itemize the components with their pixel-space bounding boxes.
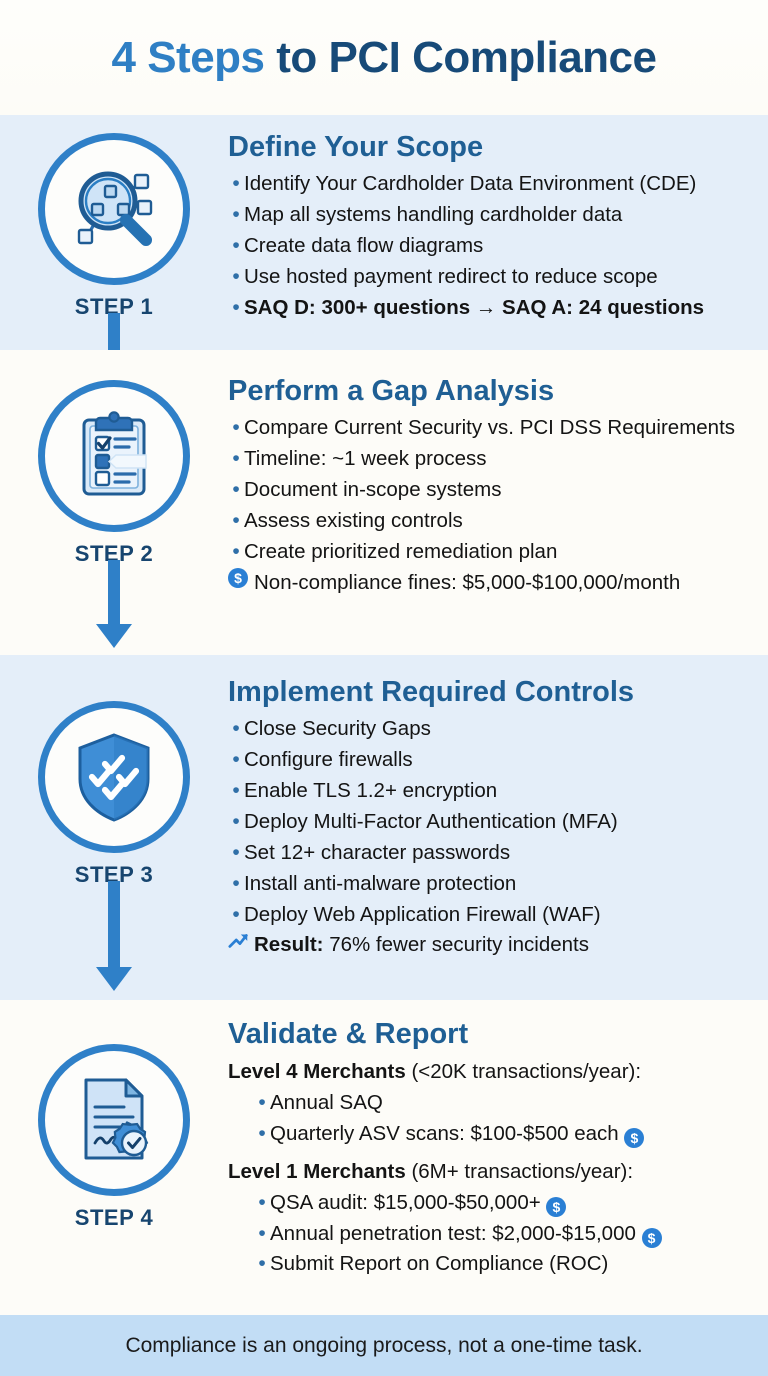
bullet-text: Deploy Web Application Firewall (WAF) — [244, 900, 762, 930]
bullet-dot-icon: • — [228, 838, 244, 869]
step-section-4: STEP 4 Validate & Report Level 4 Merchan… — [0, 1000, 768, 1315]
bullet-dot-icon: • — [228, 506, 244, 537]
step-section-2: STEP 2 Perform a Gap Analysis •Compare C… — [0, 350, 768, 655]
list-item: •Submit Report on Compliance (ROC) — [254, 1249, 762, 1280]
list-item: •Timeline: ~1 week process — [228, 444, 762, 475]
bullet-dot-icon: • — [254, 1249, 270, 1280]
bullet-text: Timeline: ~1 week process — [244, 444, 762, 474]
bullet-dot-icon: • — [228, 900, 244, 931]
step-2-marker-column: STEP 2 — [0, 350, 228, 655]
bullet-text: Non-compliance fines: $5,000-$100,000/mo… — [254, 568, 762, 598]
list-item: •QSA audit: $15,000-$50,000+ $ — [254, 1188, 762, 1219]
merchant-group-list-2: •QSA audit: $15,000-$50,000+ $ •Annual p… — [228, 1188, 762, 1281]
bullet-dot-icon: • — [228, 714, 244, 745]
bullet-dot-icon: • — [228, 262, 244, 293]
bullet-text: Submit Report on Compliance (ROC) — [270, 1249, 762, 1279]
step-1-marker-column: STEP 1 — [0, 115, 228, 350]
bullet-dot-icon: • — [228, 537, 244, 568]
step-3-icon-circle — [38, 701, 190, 853]
bullet-text: Create data flow diagrams — [244, 231, 762, 261]
bullet-text: Compare Current Security vs. PCI DSS Req… — [244, 413, 762, 443]
bullet-text: Set 12+ character passwords — [244, 838, 762, 868]
bullet-dot-icon: • — [254, 1219, 270, 1250]
step-4-marker-column: STEP 4 — [0, 1000, 228, 1315]
list-item: •Create prioritized remediation plan — [228, 537, 762, 568]
bullet-dot-icon: • — [228, 869, 244, 900]
bullet-dot-icon: • — [228, 776, 244, 807]
step-2-heading: Perform a Gap Analysis — [228, 375, 762, 407]
title-part-light: 4 Steps — [112, 33, 277, 82]
list-item: •Create data flow diagrams — [228, 231, 762, 262]
merchant-group-heading-2: Level 1 Merchants (6M+ transactions/year… — [228, 1157, 762, 1188]
bullet-dot-icon: • — [254, 1088, 270, 1119]
merchant-group-heading-1: Level 4 Merchants (<20K transactions/yea… — [228, 1057, 762, 1088]
step-2-content: Perform a Gap Analysis •Compare Current … — [228, 350, 768, 655]
group-subtitle: (6M+ transactions/year): — [406, 1160, 633, 1183]
bullet-text: SAQ D: 300+ questions → SAQ A: 24 questi… — [244, 293, 762, 323]
title-part-dark: to PCI Compliance — [276, 33, 656, 82]
magnifier-network-icon — [62, 157, 166, 261]
bullet-text: Result: 76% fewer security incidents — [254, 930, 762, 960]
bullet-dot-icon: • — [228, 807, 244, 838]
result-lead-label: Result: — [254, 933, 323, 956]
document-seal-icon — [64, 1070, 164, 1170]
connector-arrow-3-to-4 — [108, 881, 120, 991]
clipboard-checklist-icon — [64, 406, 164, 506]
bullet-dot-icon: • — [228, 293, 244, 324]
bullet-text: Enable TLS 1.2+ encryption — [244, 776, 762, 806]
list-item: •Deploy Multi-Factor Authentication (MFA… — [228, 807, 762, 838]
footer-text: Compliance is an ongoing process, not a … — [125, 1334, 642, 1358]
infographic-page: 4 Steps to PCI Compliance — [0, 0, 768, 1376]
bullet-text: Identify Your Cardholder Data Environmen… — [244, 169, 762, 199]
list-item: •Map all systems handling cardholder dat… — [228, 200, 762, 231]
list-item: •Set 12+ character passwords — [228, 838, 762, 869]
bullet-dot-icon: • — [228, 200, 244, 231]
group-title: Level 1 Merchants — [228, 1160, 406, 1183]
list-item: •Enable TLS 1.2+ encryption — [228, 776, 762, 807]
step-1-icon-circle — [38, 133, 190, 285]
money-badge-icon: $ — [642, 1228, 662, 1248]
step-section-1: STEP 1 Define Your Scope •Identify Your … — [0, 115, 768, 350]
bullet-dot-icon: • — [254, 1119, 270, 1150]
bullet-dot-icon: • — [228, 231, 244, 262]
bullet-dot-icon: • — [254, 1188, 270, 1219]
footer-banner: Compliance is an ongoing process, not a … — [0, 1315, 768, 1376]
trending-up-icon — [228, 930, 250, 950]
bullet-text: Quarterly ASV scans: $100-$500 each $ — [270, 1119, 762, 1149]
list-item-result: Result: 76% fewer security incidents — [228, 930, 762, 960]
bullet-text: QSA audit: $15,000-$50,000+ $ — [270, 1188, 762, 1218]
list-item: •Document in-scope systems — [228, 475, 762, 506]
marker-slot — [228, 930, 254, 950]
list-item: •Close Security Gaps — [228, 714, 762, 745]
step-4-icon-circle — [38, 1044, 190, 1196]
step-3-bullet-list: •Close Security Gaps •Configure firewall… — [228, 714, 762, 960]
connector-arrow-2-to-3 — [108, 560, 120, 648]
list-item: •SAQ D: 300+ questions → SAQ A: 24 quest… — [228, 293, 762, 324]
bullet-text: Create prioritized remediation plan — [244, 537, 762, 567]
list-item: •Install anti-malware protection — [228, 869, 762, 900]
bullet-text: Document in-scope systems — [244, 475, 762, 505]
list-item: •Annual SAQ — [254, 1088, 762, 1119]
group-subtitle: (<20K transactions/year): — [406, 1060, 641, 1083]
bullet-text: Close Security Gaps — [244, 714, 762, 744]
step-section-3: STEP 3 Implement Required Controls •Clos… — [0, 655, 768, 1000]
list-item: •Identify Your Cardholder Data Environme… — [228, 169, 762, 200]
money-badge-icon: $ — [546, 1197, 566, 1217]
step-4-heading: Validate & Report — [228, 1018, 762, 1050]
bullet-text: Install anti-malware protection — [244, 869, 762, 899]
step-1-bullet-list: •Identify Your Cardholder Data Environme… — [228, 169, 762, 323]
bullet-text: Annual penetration test: $2,000-$15,000 … — [270, 1219, 762, 1249]
step-2-bullet-list: •Compare Current Security vs. PCI DSS Re… — [228, 413, 762, 597]
step-1-heading: Define Your Scope — [228, 131, 762, 163]
list-item: $Non-compliance fines: $5,000-$100,000/m… — [228, 568, 762, 598]
bullet-dot-icon: • — [228, 413, 244, 444]
bullet-text: Annual SAQ — [270, 1088, 762, 1118]
bullet-dot-icon: • — [228, 169, 244, 200]
marker-slot: $ — [228, 568, 254, 588]
group-title: Level 4 Merchants — [228, 1060, 406, 1083]
shield-checks-icon — [64, 727, 164, 827]
money-badge-icon: $ — [624, 1128, 644, 1148]
bullet-text: Deploy Multi-Factor Authentication (MFA) — [244, 807, 762, 837]
page-title: 4 Steps to PCI Compliance — [112, 33, 657, 83]
bullet-dot-icon: • — [228, 475, 244, 506]
bullet-dot-icon: • — [228, 444, 244, 475]
step-4-content: Validate & Report Level 4 Merchants (<20… — [228, 1000, 768, 1315]
bullet-text: Map all systems handling cardholder data — [244, 200, 762, 230]
list-item: •Compare Current Security vs. PCI DSS Re… — [228, 413, 762, 444]
list-item: •Annual penetration test: $2,000-$15,000… — [254, 1219, 762, 1250]
list-item: •Quarterly ASV scans: $100-$500 each $ — [254, 1119, 762, 1150]
money-badge-icon: $ — [228, 568, 248, 588]
title-bar: 4 Steps to PCI Compliance — [0, 0, 768, 115]
list-item: •Deploy Web Application Firewall (WAF) — [228, 900, 762, 931]
list-item: •Assess existing controls — [228, 506, 762, 537]
step-3-marker-column: STEP 3 — [0, 655, 228, 1000]
list-item: •Configure firewalls — [228, 745, 762, 776]
merchant-group-list-1: •Annual SAQ •Quarterly ASV scans: $100-$… — [228, 1088, 762, 1150]
bullet-dot-icon: • — [228, 745, 244, 776]
bullet-text: Assess existing controls — [244, 506, 762, 536]
step-3-heading: Implement Required Controls — [228, 676, 762, 708]
list-item: •Use hosted payment redirect to reduce s… — [228, 262, 762, 293]
step-4-label: STEP 4 — [75, 1205, 153, 1231]
bullet-label: Annual penetration test: $2,000-$15,000 — [270, 1222, 636, 1245]
result-value: 76% fewer security incidents — [329, 933, 589, 956]
bullet-text: Use hosted payment redirect to reduce sc… — [244, 262, 762, 292]
bullet-label: Quarterly ASV scans: $100-$500 each — [270, 1122, 619, 1145]
bullet-text: Configure firewalls — [244, 745, 762, 775]
bullet-label: QSA audit: $15,000-$50,000+ — [270, 1191, 541, 1214]
step-1-content: Define Your Scope •Identify Your Cardhol… — [228, 115, 768, 350]
step-2-icon-circle — [38, 380, 190, 532]
step-3-content: Implement Required Controls •Close Secur… — [228, 655, 768, 1000]
